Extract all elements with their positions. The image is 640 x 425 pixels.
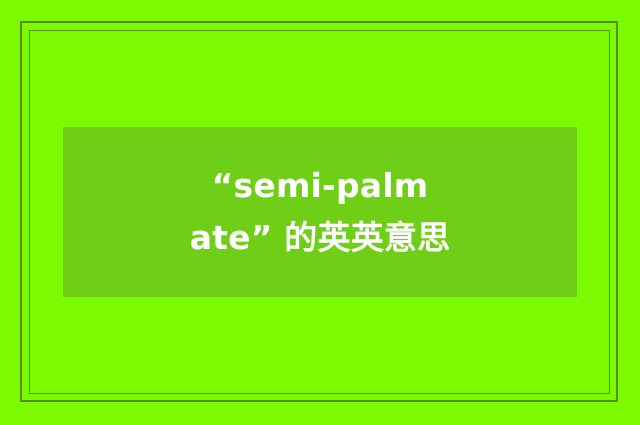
content-panel: “semi-palm ate” 的英英意思: [63, 127, 577, 297]
page-title: “semi-palm ate” 的英英意思: [190, 160, 451, 264]
page-canvas: “semi-palm ate” 的英英意思: [0, 0, 640, 425]
